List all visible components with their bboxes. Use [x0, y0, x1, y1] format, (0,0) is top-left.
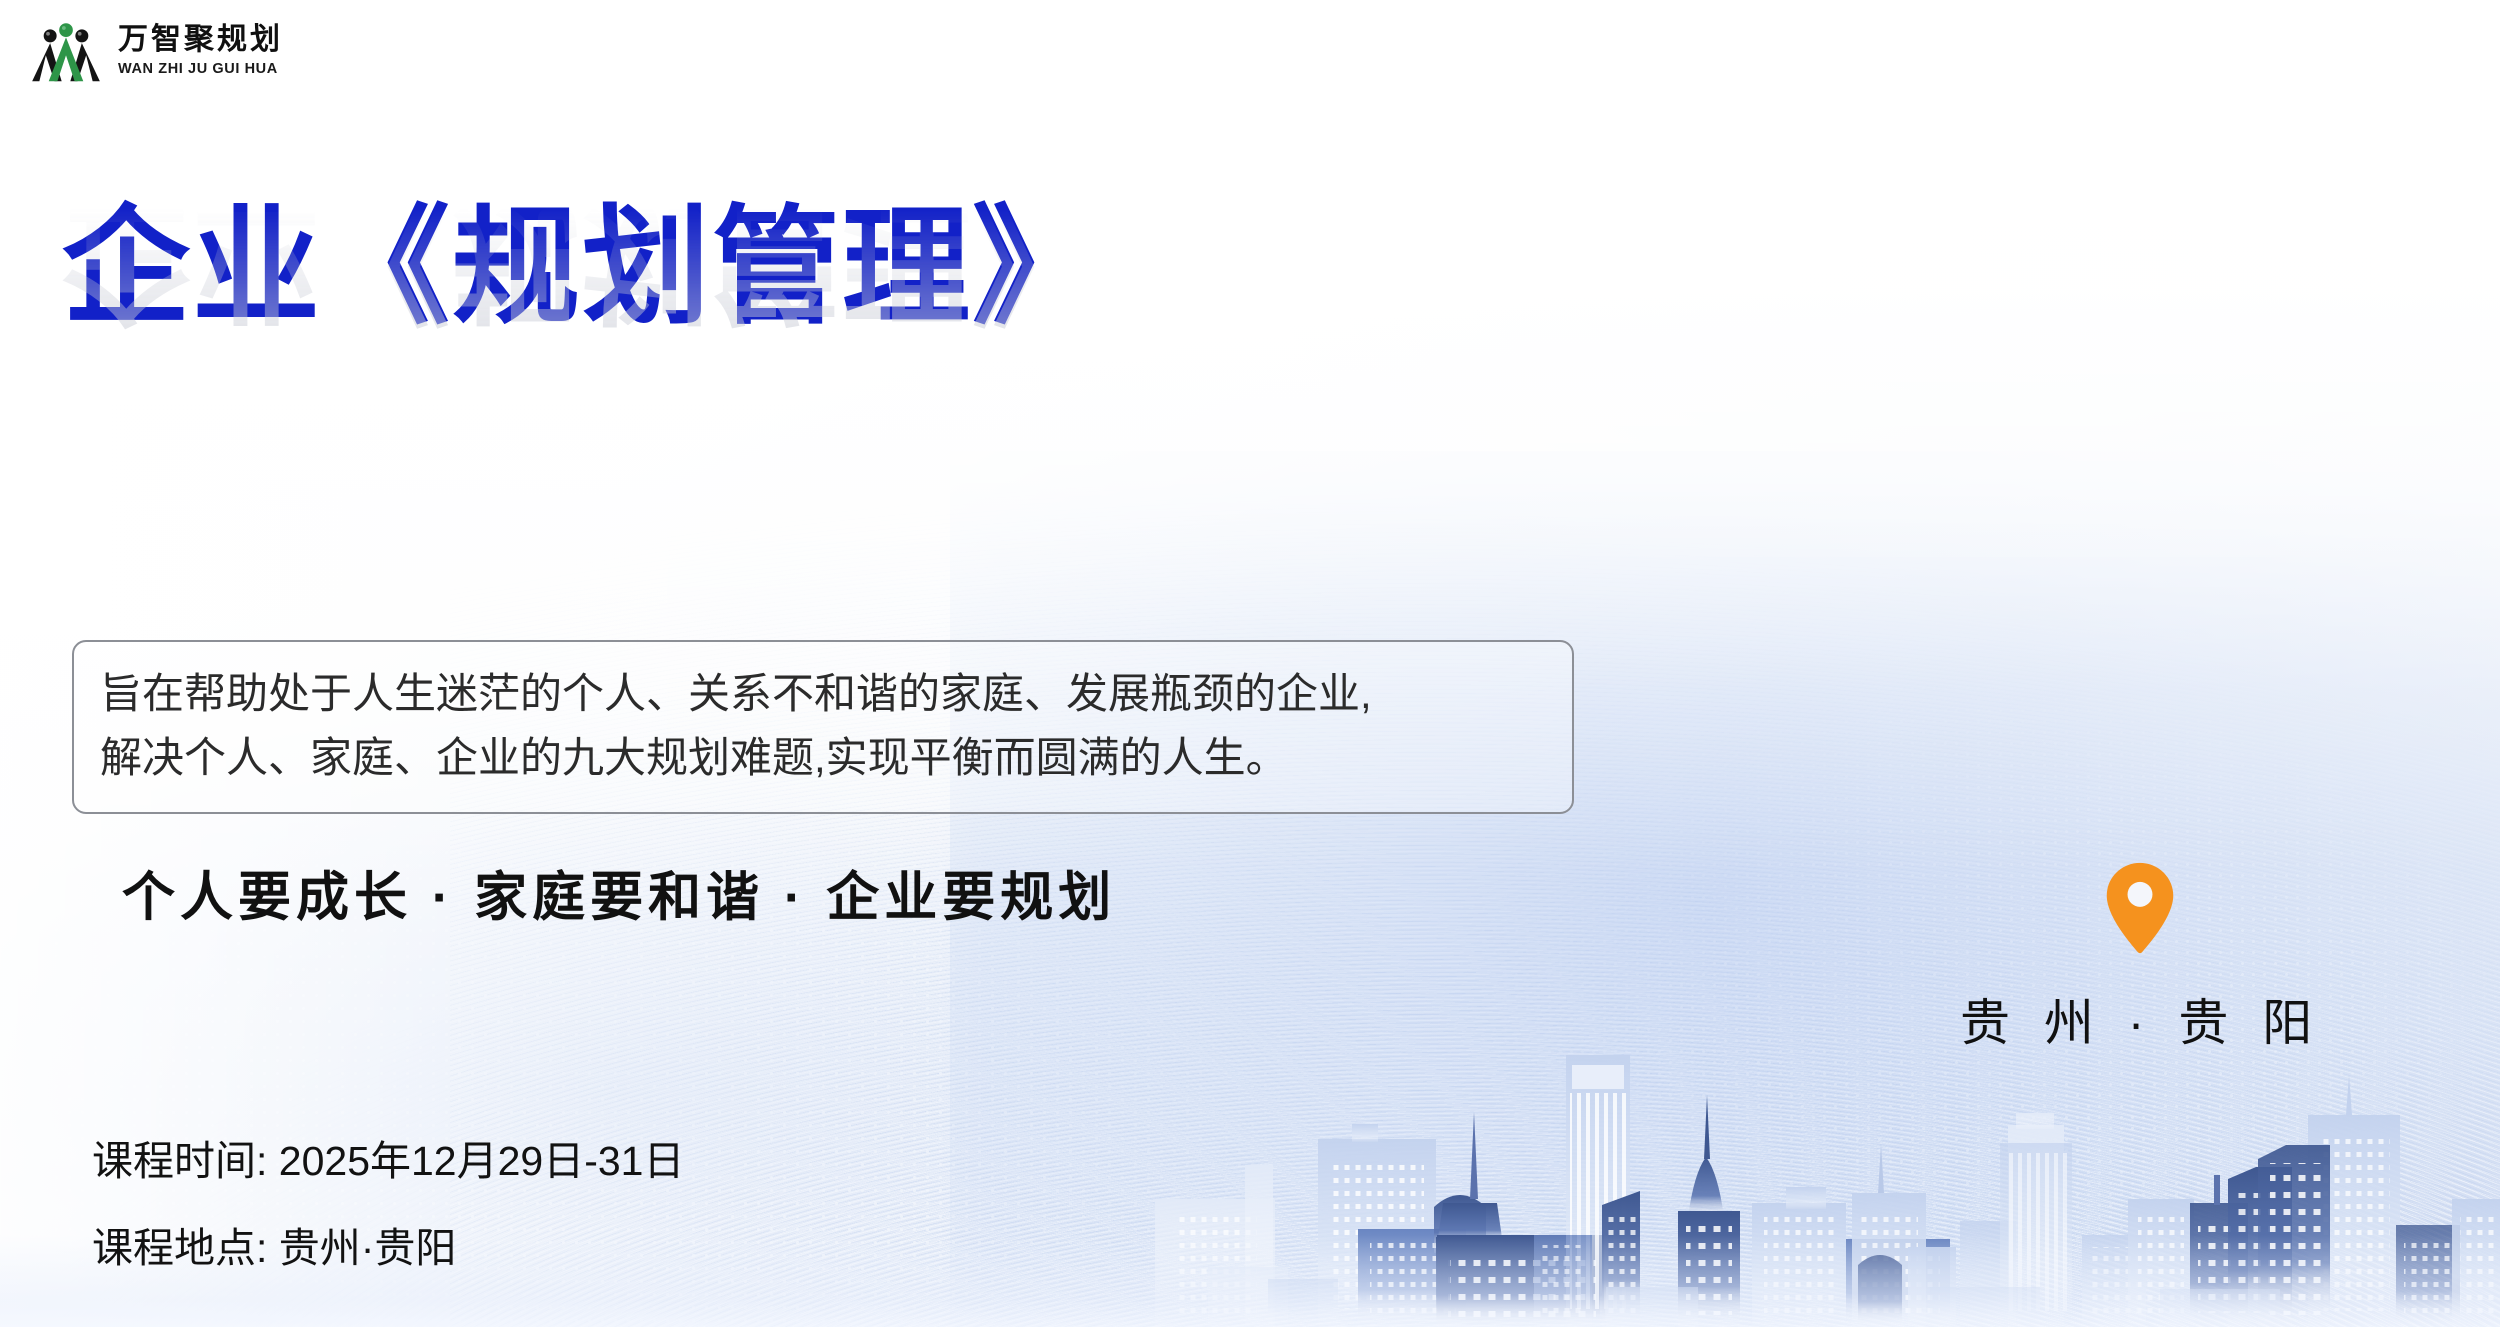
brand-logo: 万智聚规划 WAN ZHI JU GUI HUA — [30, 14, 283, 88]
brand-name-pinyin: WAN ZHI JU GUI HUA — [118, 62, 283, 77]
course-info: 课程时间: 2025年12月29日-31日 课程地点: 贵州·贵阳 — [92, 1141, 684, 1269]
three-people-logo-icon — [30, 14, 102, 88]
course-time-row: 课程时间: 2025年12月29日-31日 — [92, 1141, 684, 1182]
location-label: 贵 州 · 贵 阳 — [1960, 983, 2320, 1055]
page-title-reflection: 企业《规划管理》 — [62, 190, 1102, 333]
brand-name-cn: 万智聚规划 — [118, 25, 283, 55]
headline-block: 企业《规划管理》 企业《规划管理》 — [62, 196, 1102, 477]
description-line-2: 解决个人、家庭、企业的九大规划难题,实现平衡而圆满的人生。 — [100, 726, 1546, 790]
slogan-text: 个人要成长 · 家庭要和谐 · 企业要规划 — [122, 855, 1116, 931]
location-block: 贵 州 · 贵 阳 — [1960, 860, 2320, 1055]
description-line-1: 旨在帮助处于人生迷茫的个人、关系不和谐的家庭、发展瓶颈的企业, — [100, 662, 1546, 726]
course-place-row: 课程地点: 贵州·贵阳 — [92, 1228, 684, 1269]
map-pin-icon — [2102, 943, 2178, 960]
brand-logo-text: 万智聚规划 WAN ZHI JU GUI HUA — [118, 25, 283, 77]
description-box: 旨在帮助处于人生迷茫的个人、关系不和谐的家庭、发展瓶颈的企业, 解决个人、家庭、… — [72, 640, 1574, 814]
